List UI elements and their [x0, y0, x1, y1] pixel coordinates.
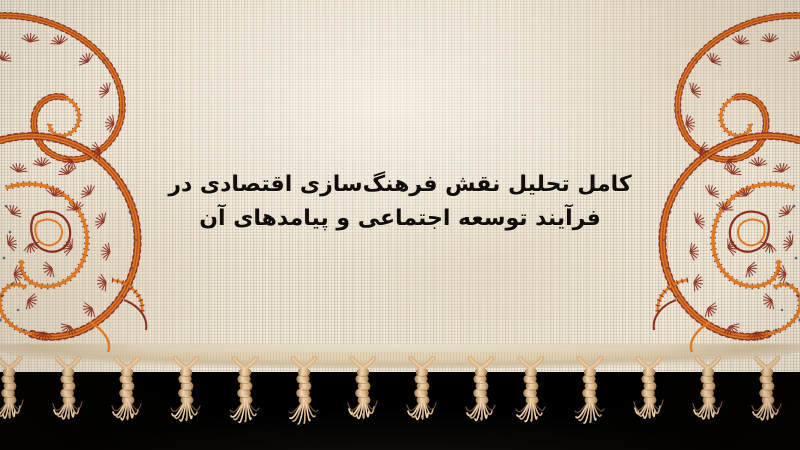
tassel [51, 356, 85, 450]
tassel [750, 356, 784, 450]
tassel [632, 356, 666, 450]
tassel [346, 356, 380, 450]
tassel [228, 356, 262, 450]
title-line-1: کامل تحلیل نقش فرهنگ‌سازی اقتصادی در [0, 168, 800, 202]
tassel [691, 356, 725, 450]
tassel [514, 356, 548, 450]
tassel [0, 356, 26, 450]
pateh-banner-canvas: کامل تحلیل نقش فرهنگ‌سازی اقتصادی در فرآ… [0, 0, 800, 450]
tassel [169, 356, 203, 450]
tassel [573, 356, 607, 450]
tassel [287, 356, 321, 450]
knotted-tassel-fringe [0, 356, 800, 450]
tassel [405, 356, 439, 450]
tassel [464, 356, 498, 450]
title-line-2: فرآیند توسعه اجتماعی و پیامدهای آن [0, 202, 800, 236]
tassel [110, 356, 144, 450]
banner-title: کامل تحلیل نقش فرهنگ‌سازی اقتصادی در فرآ… [0, 168, 800, 236]
